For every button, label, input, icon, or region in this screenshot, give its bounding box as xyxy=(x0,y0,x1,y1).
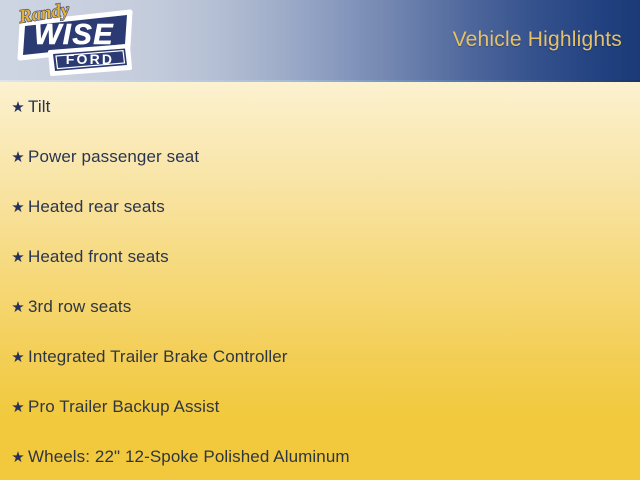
list-item: ★ Wheels: 22" 12-Spoke Polished Aluminum xyxy=(0,432,640,480)
highlight-label: Wheels: 22" 12-Spoke Polished Aluminum xyxy=(28,447,640,467)
list-item: ★ Heated front seats xyxy=(0,232,640,282)
highlight-label: Power passenger seat xyxy=(28,147,640,167)
star-icon: ★ xyxy=(8,150,28,165)
star-icon: ★ xyxy=(8,350,28,365)
svg-text:FORD: FORD xyxy=(66,51,114,67)
star-icon: ★ xyxy=(8,100,28,115)
list-item: ★ Heated rear seats xyxy=(0,182,640,232)
list-item: ★ Power passenger seat xyxy=(0,132,640,182)
highlight-label: Pro Trailer Backup Assist xyxy=(28,397,640,417)
highlight-label: Heated front seats xyxy=(28,247,640,267)
star-icon: ★ xyxy=(8,450,28,465)
star-icon: ★ xyxy=(8,200,28,215)
page-header: WISE FORD Randy Vehicle Highlights xyxy=(0,0,640,82)
vehicle-highlights-list: ★ Tilt ★ Power passenger seat ★ Heated r… xyxy=(0,82,640,480)
vehicle-highlights-page: WISE FORD Randy Vehicle Highlights ★ Til… xyxy=(0,0,640,480)
list-item: ★ Pro Trailer Backup Assist xyxy=(0,382,640,432)
highlight-label: Integrated Trailer Brake Controller xyxy=(28,347,640,367)
randy-wise-ford-logo[interactable]: WISE FORD Randy xyxy=(6,2,141,78)
page-title: Vehicle Highlights xyxy=(453,28,622,52)
highlight-label: Heated rear seats xyxy=(28,197,640,217)
list-item: ★ Integrated Trailer Brake Controller xyxy=(0,332,640,382)
star-icon: ★ xyxy=(8,250,28,265)
list-item: ★ 3rd row seats xyxy=(0,282,640,332)
highlight-label: Tilt xyxy=(28,97,640,117)
star-icon: ★ xyxy=(8,300,28,315)
star-icon: ★ xyxy=(8,400,28,415)
list-item: ★ Tilt xyxy=(0,82,640,132)
highlight-label: 3rd row seats xyxy=(28,297,640,317)
